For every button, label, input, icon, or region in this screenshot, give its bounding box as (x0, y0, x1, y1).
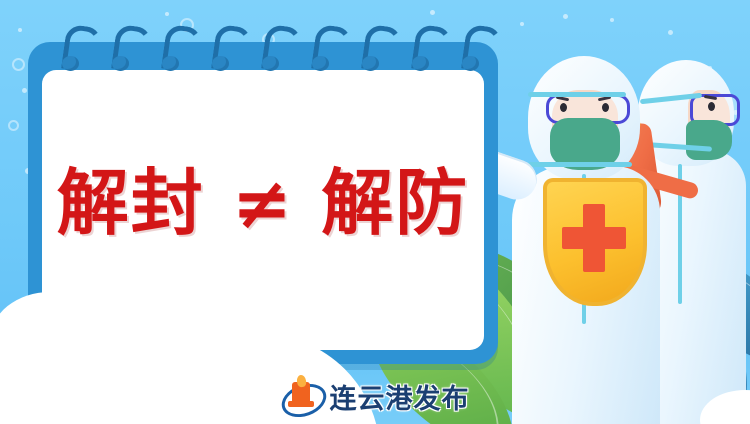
eye-right (602, 103, 609, 112)
hood-strap-front-2 (528, 162, 632, 167)
bokeh-dot (563, 14, 568, 19)
hood-strap-front (528, 92, 626, 97)
binder-ring (114, 26, 140, 80)
eye-back (708, 102, 715, 111)
binder-ring (214, 26, 240, 80)
red-cross-horizontal (562, 227, 626, 249)
binder-ring (414, 26, 440, 80)
bokeh-dot (165, 12, 169, 16)
bokeh-ring (12, 58, 25, 71)
binder-ring (464, 26, 490, 80)
binder-ring (64, 26, 90, 80)
binder-ring (264, 26, 290, 80)
bokeh-dot (18, 28, 22, 32)
bokeh-dot (430, 10, 435, 15)
bokeh-dot (22, 88, 27, 93)
eye-left (560, 103, 567, 112)
mask-back (686, 120, 732, 160)
bokeh-dot (520, 22, 524, 26)
bokeh-dot (668, 30, 673, 35)
binder-ring (164, 26, 190, 80)
binder-ring (364, 26, 390, 80)
bokeh-dot (610, 18, 614, 22)
poster-canvas: 解封 ≠ 解防 连云港发布 (0, 0, 750, 424)
notepad-paper (42, 70, 484, 350)
protection-shield (543, 178, 647, 306)
binder-ring (314, 26, 340, 80)
bokeh-ring (8, 120, 19, 131)
